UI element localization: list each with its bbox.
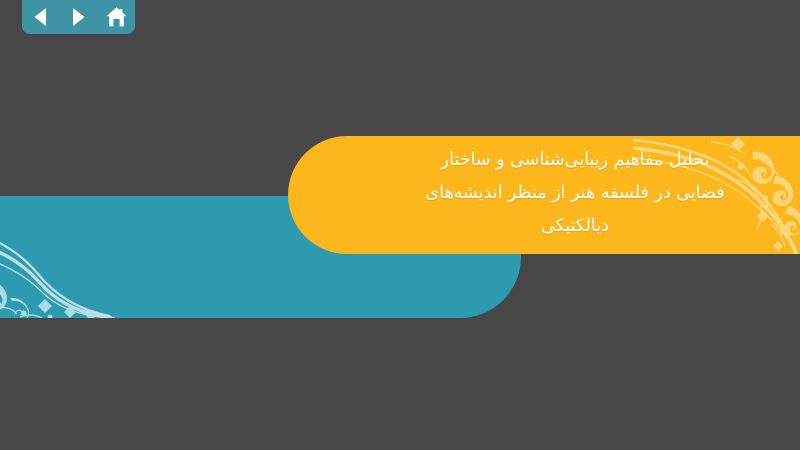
- home-icon: [105, 6, 128, 28]
- back-button[interactable]: [28, 5, 54, 29]
- forward-button[interactable]: [65, 5, 91, 29]
- slide-title: تحلیل مفاهیم زیبایی‌شناسی و ساختار فضایی…: [360, 144, 790, 243]
- triangle-right-icon: [67, 6, 89, 28]
- title-line-1: تحلیل مفاهیم زیبایی‌شناسی و ساختار: [360, 144, 790, 177]
- arabesque-ornament-left: [0, 198, 135, 318]
- navigation-bar: [22, 0, 135, 34]
- presentation-slide: تحلیل مفاهیم زیبایی‌شناسی و ساختار فضایی…: [0, 0, 800, 450]
- home-button[interactable]: [103, 5, 129, 29]
- title-line-2: فضایی در فلسفه هنر از منظر اندیشه‌های: [360, 177, 790, 210]
- title-line-3: دیالکتیکی: [360, 210, 790, 243]
- title-card: تحلیل مفاهیم زیبایی‌شناسی و ساختار فضایی…: [288, 136, 800, 254]
- triangle-left-icon: [30, 6, 52, 28]
